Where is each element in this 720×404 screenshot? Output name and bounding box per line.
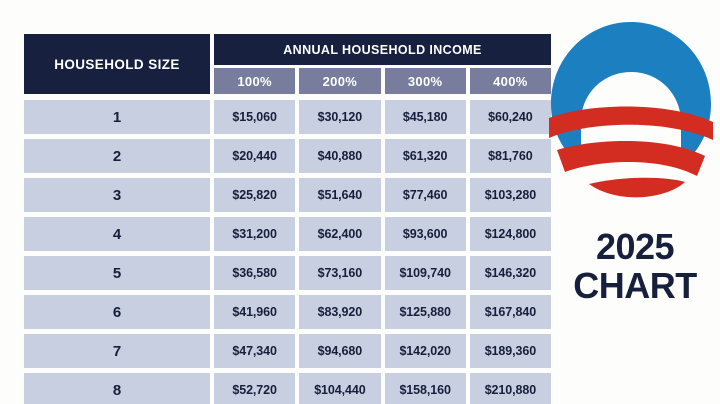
cell-income-400pct: $189,360 <box>470 334 551 368</box>
cell-income-300pct: $93,600 <box>385 217 466 251</box>
cell-income-200pct: $30,120 <box>299 100 380 134</box>
cell-income-100pct: $15,060 <box>214 100 295 134</box>
table-body: 1$15,060$30,120$45,180$60,2402$20,440$40… <box>24 100 551 404</box>
table-header-row: HOUSEHOLD SIZE ANNUAL HOUSEHOLD INCOME 1… <box>24 34 551 94</box>
table-row: 3$25,820$51,640$77,460$103,280 <box>24 178 551 212</box>
percent-header-200: 200% <box>299 68 380 94</box>
cell-income-100pct: $47,340 <box>214 334 295 368</box>
cell-household-size: 3 <box>24 178 210 212</box>
percent-header-400: 400% <box>470 68 551 94</box>
cell-household-size: 8 <box>24 373 210 404</box>
cell-income-300pct: $158,160 <box>385 373 466 404</box>
income-cell-group: $36,580$73,160$109,740$146,320 <box>214 256 551 290</box>
table-row: 8$52,720$104,440$158,160$210,880 <box>24 373 551 404</box>
cell-income-100pct: $25,820 <box>214 178 295 212</box>
cell-income-300pct: $45,180 <box>385 100 466 134</box>
cell-household-size: 7 <box>24 334 210 368</box>
table-row: 6$41,960$83,920$125,880$167,840 <box>24 295 551 329</box>
cell-household-size: 4 <box>24 217 210 251</box>
chart-canvas: HOUSEHOLD SIZE ANNUAL HOUSEHOLD INCOME 1… <box>0 0 720 404</box>
income-cell-group: $20,440$40,880$61,320$81,760 <box>214 139 551 173</box>
cell-income-400pct: $81,760 <box>470 139 551 173</box>
table-row: 5$36,580$73,160$109,740$146,320 <box>24 256 551 290</box>
percent-header-100: 100% <box>214 68 295 94</box>
cell-income-400pct: $103,280 <box>470 178 551 212</box>
cell-income-300pct: $125,880 <box>385 295 466 329</box>
income-cell-group: $52,720$104,440$158,160$210,880 <box>214 373 551 404</box>
household-size-header: HOUSEHOLD SIZE <box>24 34 210 94</box>
cell-income-200pct: $62,400 <box>299 217 380 251</box>
aca-logo-icon <box>545 14 717 210</box>
cell-income-300pct: $109,740 <box>385 256 466 290</box>
percent-header-300: 300% <box>385 68 466 94</box>
cell-income-200pct: $40,880 <box>299 139 380 173</box>
income-cell-group: $15,060$30,120$45,180$60,240 <box>214 100 551 134</box>
cell-household-size: 1 <box>24 100 210 134</box>
income-cell-group: $31,200$62,400$93,600$124,800 <box>214 217 551 251</box>
cell-income-100pct: $31,200 <box>214 217 295 251</box>
cell-household-size: 2 <box>24 139 210 173</box>
cell-income-200pct: $94,680 <box>299 334 380 368</box>
cell-income-200pct: $104,440 <box>299 373 380 404</box>
cell-income-400pct: $210,880 <box>470 373 551 404</box>
cell-income-300pct: $77,460 <box>385 178 466 212</box>
cell-income-300pct: $142,020 <box>385 334 466 368</box>
percent-header-row: 100% 200% 300% 400% <box>214 68 551 94</box>
cell-income-400pct: $124,800 <box>470 217 551 251</box>
cell-income-200pct: $51,640 <box>299 178 380 212</box>
cell-income-400pct: $60,240 <box>470 100 551 134</box>
cell-income-100pct: $20,440 <box>214 139 295 173</box>
cell-income-400pct: $146,320 <box>470 256 551 290</box>
cell-income-400pct: $167,840 <box>470 295 551 329</box>
cell-household-size: 5 <box>24 256 210 290</box>
income-header-group: ANNUAL HOUSEHOLD INCOME 100% 200% 300% 4… <box>214 34 551 94</box>
federal-poverty-level-table: HOUSEHOLD SIZE ANNUAL HOUSEHOLD INCOME 1… <box>24 34 551 374</box>
income-cell-group: $41,960$83,920$125,880$167,840 <box>214 295 551 329</box>
income-cell-group: $25,820$51,640$77,460$103,280 <box>214 178 551 212</box>
annual-household-income-header: ANNUAL HOUSEHOLD INCOME <box>214 34 551 65</box>
table-row: 1$15,060$30,120$45,180$60,240 <box>24 100 551 134</box>
cell-income-200pct: $73,160 <box>299 256 380 290</box>
chart-caption: 2025 CHART <box>555 228 715 306</box>
cell-household-size: 6 <box>24 295 210 329</box>
cell-income-100pct: $36,580 <box>214 256 295 290</box>
table-row: 2$20,440$40,880$61,320$81,760 <box>24 139 551 173</box>
cell-income-200pct: $83,920 <box>299 295 380 329</box>
cell-income-300pct: $61,320 <box>385 139 466 173</box>
table-row: 4$31,200$62,400$93,600$124,800 <box>24 217 551 251</box>
cell-income-100pct: $41,960 <box>214 295 295 329</box>
income-cell-group: $47,340$94,680$142,020$189,360 <box>214 334 551 368</box>
caption-year: 2025 <box>555 228 715 267</box>
table-row: 7$47,340$94,680$142,020$189,360 <box>24 334 551 368</box>
caption-label: CHART <box>555 267 715 306</box>
cell-income-100pct: $52,720 <box>214 373 295 404</box>
